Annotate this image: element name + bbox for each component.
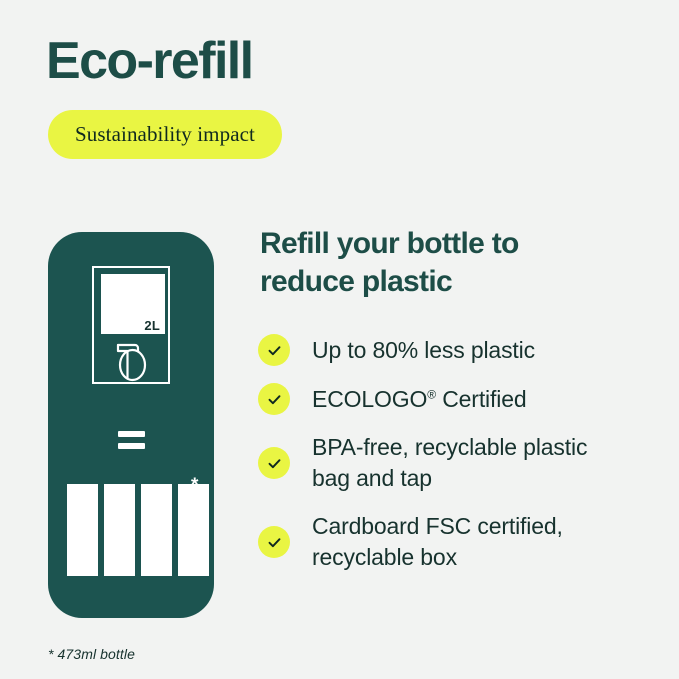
- feature-list: Up to 80% less plastic ECOLOGO® Certifie…: [258, 334, 668, 573]
- bag-tap-icon: [105, 340, 161, 382]
- registered-trademark-symbol: ®: [427, 387, 436, 401]
- equals-sign: [48, 431, 214, 449]
- feature-item: Up to 80% less plastic: [258, 334, 668, 366]
- section-heading: Refill your bottle to reduce plastic: [260, 225, 620, 301]
- bottle-row: [67, 484, 209, 576]
- box-volume-label: 2L: [144, 318, 160, 333]
- bottle-shape: [67, 484, 98, 576]
- sustainability-impact-badge: Sustainability impact: [48, 110, 282, 159]
- check-icon: [258, 447, 290, 479]
- feature-label: Cardboard FSC certified, recyclable box: [312, 511, 642, 573]
- refill-box-face: 2L: [101, 274, 165, 334]
- feature-label: BPA-free, recyclable plastic bag and tap: [312, 432, 612, 494]
- check-icon: [258, 334, 290, 366]
- feature-label: Up to 80% less plastic: [312, 335, 535, 366]
- equals-bar-top: [118, 431, 145, 437]
- feature-label-suffix: Certified: [436, 386, 527, 412]
- page-title: Eco-refill: [46, 32, 253, 90]
- bottle-shape: [178, 484, 209, 576]
- feature-item: ECOLOGO® Certified: [258, 383, 668, 415]
- feature-label: ECOLOGO® Certified: [312, 384, 527, 415]
- feature-item: Cardboard FSC certified, recyclable box: [258, 511, 668, 573]
- footnote: * 473ml bottle: [48, 646, 135, 662]
- bottle-shape: [141, 484, 172, 576]
- equals-bar-bottom: [118, 443, 145, 449]
- feature-label-main: ECOLOGO: [312, 386, 427, 412]
- bottle-shape: [104, 484, 135, 576]
- check-icon: [258, 526, 290, 558]
- feature-item: BPA-free, recyclable plastic bag and tap: [258, 432, 668, 494]
- refill-illustration-card: 2L *: [48, 232, 214, 618]
- badge-label: Sustainability impact: [75, 122, 255, 147]
- refill-box-frame: 2L: [92, 266, 170, 384]
- footnote-asterisk-marker: *: [191, 476, 198, 495]
- check-icon: [258, 383, 290, 415]
